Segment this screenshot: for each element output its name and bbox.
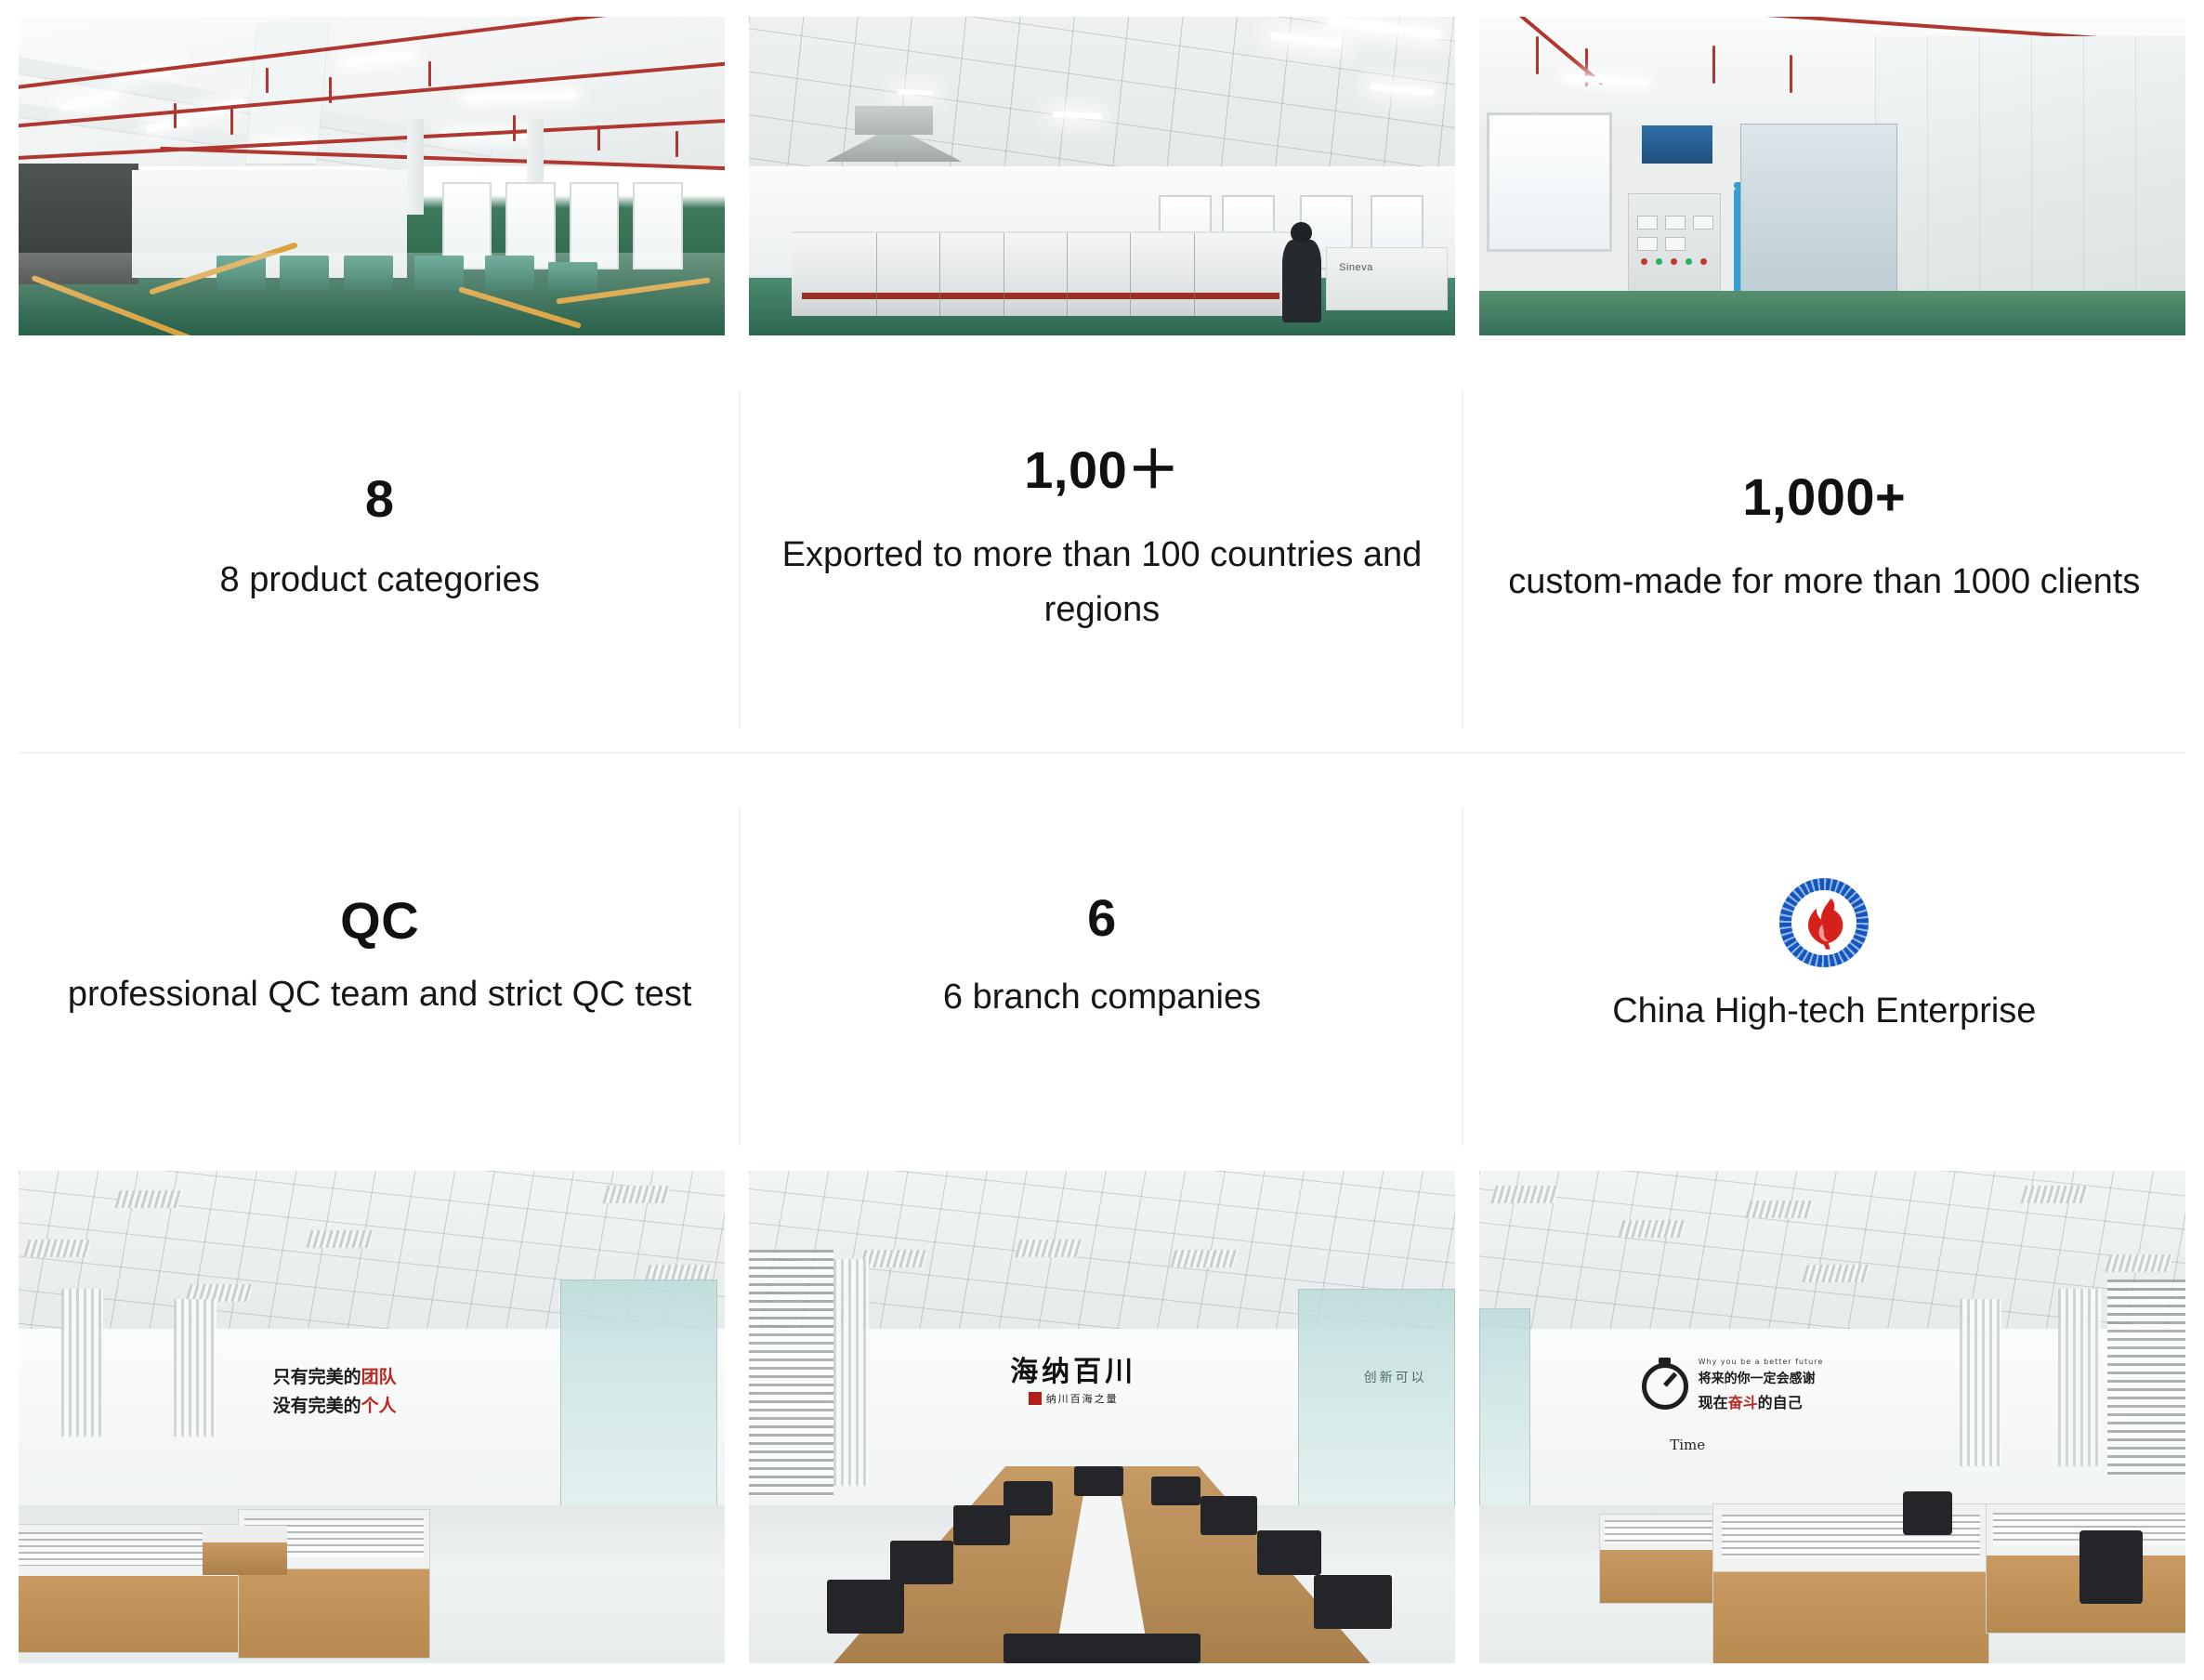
photo-open-office: 只有完美的团队 没有完美的个人 — [19, 1171, 725, 1663]
stat-label: 6 branch companies — [943, 970, 1261, 1025]
wall-slogan-accent: 奋斗 — [1728, 1394, 1758, 1411]
ceiling-light-panel — [23, 1240, 92, 1257]
pillar — [407, 119, 424, 215]
control-cabinet: Sineva — [1326, 247, 1448, 309]
company-profile-page: Sineva — [0, 0, 2204, 1680]
reflow-oven — [792, 231, 1300, 316]
ceiling-light-panel — [1745, 1201, 1814, 1218]
conference-chair — [953, 1505, 1010, 1544]
glass-partition — [560, 1280, 717, 1517]
stat-label: Exported to more than 100 countries and … — [781, 528, 1422, 637]
conference-chair — [827, 1580, 905, 1634]
conference-chair — [1151, 1477, 1200, 1506]
photo-meeting-room: 海纳百川 纳川百海之量 创新可以 — [749, 1171, 1455, 1663]
desk-surface — [203, 1526, 287, 1575]
window-blinds — [749, 1250, 833, 1496]
photo-factory-workshop — [19, 17, 725, 335]
conference-chair — [1074, 1466, 1123, 1496]
sprinkler-drop — [1790, 55, 1792, 93]
blue-machine-unit — [1642, 125, 1712, 164]
wall-slogan-accent: 团队 — [361, 1367, 397, 1387]
gauge — [1637, 216, 1658, 230]
window-curtain — [2058, 1289, 2101, 1466]
stat-number: 6 — [1087, 892, 1117, 944]
company-stats-grid: 8 8 product categories 1,00＋ Exported to… — [19, 335, 2185, 1171]
stat-label: China High-tech Enterprise — [1612, 984, 2036, 1039]
wall-panel — [1875, 36, 2185, 297]
wall-slogan-text: 只有完美的 — [273, 1367, 361, 1387]
machine-brand-label: Sineva — [1339, 262, 1373, 273]
oven-panel-seam — [1194, 233, 1195, 316]
wall-slogan-line-1: 将来的你一定会感谢 — [1699, 1369, 1816, 1387]
stat-number: 1,000+ — [1742, 471, 1906, 523]
wall-slogan: Why you be a better future 将来的你一定会感谢 现在奋… — [1699, 1358, 1824, 1412]
window-curtain — [61, 1289, 104, 1437]
glass-door-text: 创新可以 — [1364, 1368, 1427, 1386]
conference-chair — [1314, 1575, 1392, 1629]
glass-partition — [1298, 1289, 1455, 1517]
window-curtain — [1960, 1299, 2002, 1466]
window-curtain — [174, 1299, 216, 1437]
oven-panel-seam — [1067, 233, 1068, 316]
wall-slogan-line-2: 没有完美的个人 — [273, 1392, 397, 1417]
ceiling-light-panel — [1618, 1220, 1686, 1238]
office-chair — [2079, 1530, 2143, 1605]
ceiling-light-panel — [1802, 1265, 1870, 1282]
office-chair — [1903, 1491, 1952, 1536]
gauge — [1637, 237, 1658, 251]
exhaust-hood — [855, 106, 933, 135]
stat-cell-branch-companies: 6 6 branch companies — [741, 754, 1463, 1172]
stat-cell-qc-team: QC professional QC team and strict QC te… — [19, 754, 741, 1172]
ceiling-light-panel — [115, 1190, 184, 1208]
stat-cell-product-categories: 8 8 product categories — [19, 335, 741, 754]
wall-slogan-text: 的自己 — [1758, 1394, 1803, 1411]
stat-label: custom-made for more than 1000 clients — [1508, 555, 2140, 610]
ceiling-light-panel — [1170, 1250, 1239, 1267]
stat-label: 8 product categories — [220, 553, 540, 608]
oven-panel-seam — [1130, 233, 1131, 316]
wall-slogan-text: 现在 — [1699, 1394, 1728, 1411]
epoxy-floor — [1479, 291, 2185, 335]
sprinkler-drop — [174, 103, 177, 128]
oven-panel-seam — [939, 233, 940, 316]
stat-cell-custom-made-clients: 1,000+ custom-made for more than 1000 cl… — [1463, 335, 2185, 754]
clock-label: Time — [1670, 1437, 1705, 1453]
bottom-photo-row: 只有完美的团队 没有完美的个人 海纳百川 — [19, 1171, 2185, 1663]
indicator-light — [1641, 258, 1647, 265]
signature-text: 纳川百海之量 — [1046, 1391, 1119, 1406]
calligraphy-signature: 纳川百海之量 — [1029, 1391, 1119, 1406]
sprinkler-drop — [597, 125, 600, 151]
ceiling-light-panel — [1490, 1186, 1559, 1203]
gauge — [1665, 237, 1686, 251]
ceiling-light-panel — [859, 1250, 928, 1267]
stat-cell-high-tech-enterprise: China High-tech Enterprise — [1463, 754, 2185, 1172]
window-blinds — [2107, 1280, 2185, 1477]
stat-label: professional QC team and strict QC test — [68, 967, 692, 1022]
wall-calligraphy: 海纳百川 纳川百海之量 — [1010, 1348, 1136, 1406]
calligraphy-text: 海纳百川 — [1010, 1348, 1136, 1389]
oven-panel-seam — [876, 233, 877, 316]
gauge — [1665, 216, 1686, 230]
photo-equipment-control-cabinet — [1479, 17, 2185, 335]
ceiling-light-panel — [602, 1186, 671, 1203]
sprinkler-drop — [1712, 46, 1715, 84]
sprinkler-drop — [676, 131, 678, 156]
stat-number: 8 — [365, 473, 395, 525]
ceiling-light-panel — [1015, 1240, 1083, 1257]
indicator-light — [1656, 258, 1662, 265]
sprinkler-drop — [329, 77, 332, 102]
conference-chair — [1257, 1530, 1320, 1575]
conference-chair — [1004, 1634, 1201, 1663]
china-high-tech-certificate-logo-icon — [1779, 878, 1869, 967]
window-curtain — [833, 1259, 869, 1486]
window — [1487, 112, 1612, 252]
sprinkler-drop — [1536, 36, 1539, 74]
ceiling-light-panel — [2106, 1254, 2174, 1272]
glass-partition — [1479, 1308, 1530, 1507]
conference-chair — [1200, 1496, 1257, 1535]
indicator-light — [1671, 258, 1677, 265]
conference-chair — [890, 1541, 953, 1585]
wall-slogan-line-1: 只有完美的团队 — [273, 1363, 397, 1388]
seal-stamp-icon — [1029, 1392, 1042, 1405]
oven-panel-seam — [1004, 233, 1004, 316]
floor-reflection — [19, 253, 725, 335]
wall-slogan-accent: 个人 — [361, 1396, 397, 1416]
wall-slogan-text: 没有完美的 — [273, 1396, 361, 1416]
top-photo-row: Sineva — [19, 17, 2185, 335]
gauge — [1693, 216, 1713, 230]
sprinkler-drop — [230, 109, 233, 134]
stat-number: QC — [340, 895, 419, 947]
sprinkler-drop — [513, 115, 516, 140]
wall-slogan-line-2: 现在奋斗的自己 — [1699, 1390, 1803, 1412]
indicator-light — [1686, 258, 1692, 265]
stat-number: 1,00＋ — [1024, 444, 1180, 496]
photo-reflow-oven-line: Sineva — [749, 17, 1455, 335]
photo-office-workstations: Why you be a better future 将来的你一定会感谢 现在奋… — [1479, 1171, 2185, 1663]
stat-cell-exported-countries: 1,00＋ Exported to more than 100 countrie… — [741, 335, 1463, 754]
ceiling-light-panel — [2020, 1186, 2089, 1203]
indicator-light — [1700, 258, 1707, 265]
wall-slogan-english: Why you be a better future — [1699, 1358, 1824, 1366]
ceiling-light-panel — [306, 1230, 374, 1248]
torch-flame-icon — [1803, 896, 1847, 952]
stopwatch-icon — [1642, 1363, 1688, 1410]
wall-slogan: 只有完美的团队 没有完美的个人 — [273, 1363, 397, 1417]
sprinkler-drop — [266, 68, 269, 93]
sprinkler-drop — [428, 61, 431, 86]
factory-worker — [1282, 240, 1321, 322]
conference-chair — [1004, 1481, 1053, 1516]
